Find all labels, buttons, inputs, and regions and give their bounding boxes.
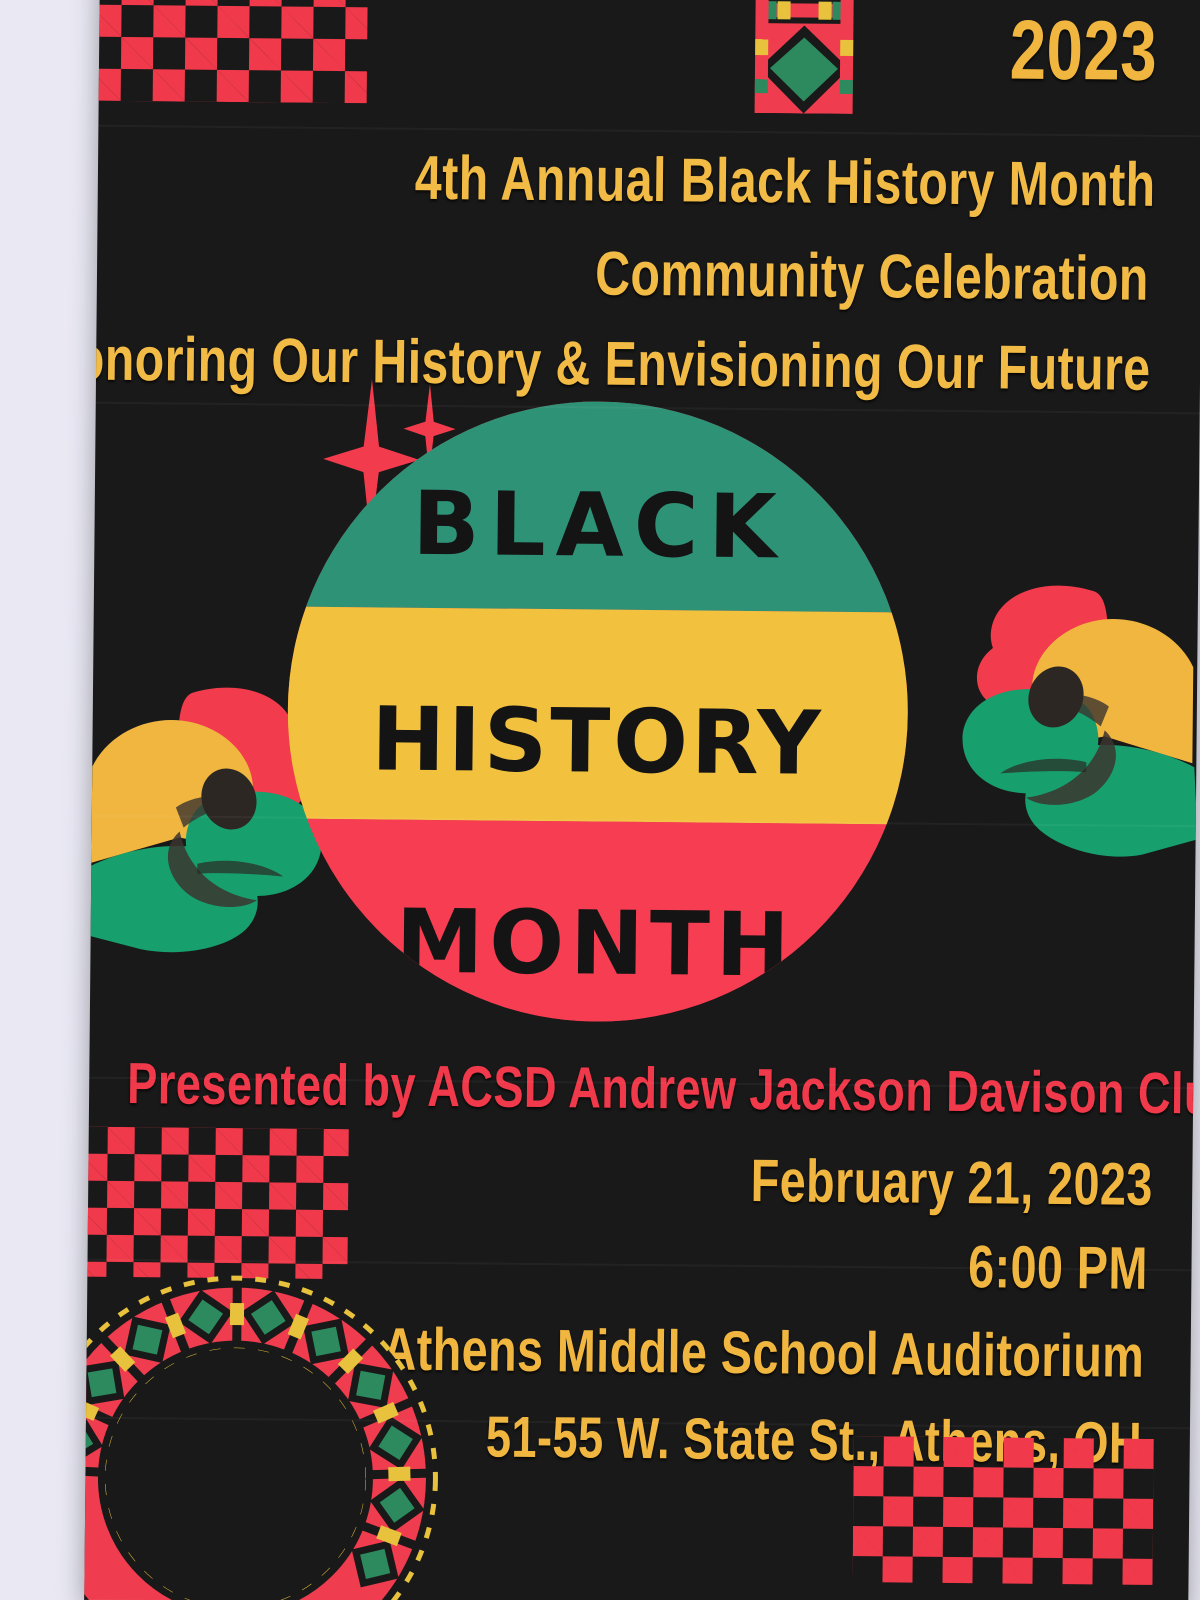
kente-arc-top-right-decoration bbox=[920, 337, 1200, 570]
black-history-month-roundel: BLACK HISTORY MONTH bbox=[285, 399, 911, 1025]
event-date-text: February 21, 2023 bbox=[750, 1151, 1153, 1215]
kente-ring-bottom-left-decoration bbox=[84, 1244, 481, 1600]
raised-fist-right-illustration bbox=[881, 564, 1200, 867]
kente-strip-top-decoration bbox=[739, 0, 871, 114]
photo-canvas: 2023 4th Annual Black History Month Comm… bbox=[0, 0, 1200, 1600]
poster-headline-line-2: Community Celebration bbox=[595, 244, 1149, 311]
event-venue-text: Athens Middle School Auditorium bbox=[383, 1320, 1145, 1387]
roundel-text-history: HISTORY bbox=[287, 687, 908, 796]
poster-year: 2023 bbox=[1009, 7, 1157, 92]
checkerboard-top-left-decoration bbox=[84, 0, 368, 103]
poster-headline-line-1: 4th Annual Black History Month bbox=[415, 148, 1156, 217]
roundel-text-month: MONTH bbox=[285, 889, 906, 998]
event-poster: 2023 4th Annual Black History Month Comm… bbox=[84, 0, 1200, 1600]
event-time-text: 6:00 PM bbox=[968, 1237, 1148, 1299]
paper-seam bbox=[98, 125, 1200, 138]
roundel-text-black: BLACK bbox=[289, 471, 910, 580]
checkerboard-bottom-right-decoration bbox=[852, 1436, 1153, 1585]
presented-by-text: Presented by ACSD Andrew Jackson Davison… bbox=[127, 1055, 1200, 1124]
